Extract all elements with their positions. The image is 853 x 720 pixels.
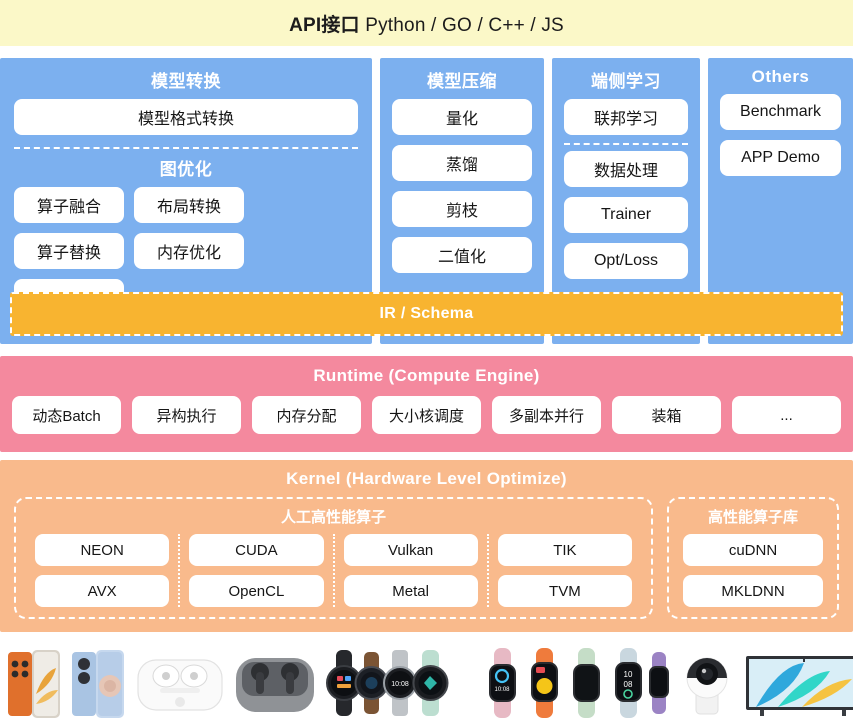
on-device-learning-stack: 数据处理 Trainer Opt/Loss — [552, 151, 700, 279]
box-tik[interactable]: TIK — [498, 534, 632, 566]
smartphone-orange-image — [6, 646, 64, 720]
box-more-runtime[interactable]: ... — [732, 396, 841, 434]
box-metal[interactable]: Metal — [344, 575, 478, 607]
box-data-processing[interactable]: 数据处理 — [564, 151, 688, 187]
device-strip: 10:08 10:08 — [0, 640, 853, 720]
box-distillation[interactable]: 蒸馏 — [392, 145, 532, 181]
box-heterogeneous-execution[interactable]: 异构执行 — [132, 396, 241, 434]
dashed-divider-on-device — [564, 143, 688, 145]
operator-library-stack: cuDNN MKLDNN — [679, 534, 827, 607]
column-title-model-compression: 模型压缩 — [380, 58, 544, 99]
manual-operators-columns: NEON AVX CUDA OpenCL Vulkan Metal TIK TV… — [26, 534, 641, 607]
column-subtitle-graph-optimization: 图优化 — [0, 155, 372, 187]
on-device-learning-top: 联邦学习 — [552, 99, 700, 135]
box-mkldnn[interactable]: MKLDNN — [683, 575, 823, 607]
manual-operators-title: 人工高性能算子 — [26, 503, 641, 534]
box-memory-allocation[interactable]: 内存分配 — [252, 396, 361, 434]
column-title-others: Others — [708, 58, 853, 94]
box-app-demo[interactable]: APP Demo — [720, 140, 841, 176]
box-trainer[interactable]: Trainer — [564, 197, 688, 233]
runtime-band: Runtime (Compute Engine) 动态Batch 异构执行 内存… — [0, 356, 853, 452]
manual-operators-group: 人工高性能算子 NEON AVX CUDA OpenCL Vulkan Meta… — [14, 497, 653, 619]
svg-text:10: 10 — [624, 670, 633, 679]
box-dynamic-batch[interactable]: 动态Batch — [12, 396, 121, 434]
box-avx[interactable]: AVX — [35, 575, 169, 607]
security-camera-image — [676, 646, 738, 720]
box-multi-replica-parallel[interactable]: 多副本并行 — [492, 396, 601, 434]
svg-text:10:08: 10:08 — [494, 687, 510, 693]
api-header-cn: API接口 — [289, 15, 360, 36]
smartwatch-group-image: 10:08 — [324, 646, 474, 720]
operator-library-group: 高性能算子库 cuDNN MKLDNN — [667, 497, 839, 619]
kernel-group-compiler: TIK TVM — [487, 534, 641, 607]
box-model-format-conversion[interactable]: 模型格式转换 — [14, 99, 358, 135]
smart-tv-image — [744, 646, 853, 720]
operator-library-title: 高性能算子库 — [679, 503, 827, 534]
earbuds-case-dark-image — [232, 646, 318, 720]
svg-text:10:08: 10:08 — [391, 681, 409, 688]
box-operator-replacement[interactable]: 算子替换 — [14, 233, 124, 269]
box-binarization[interactable]: 二值化 — [392, 237, 532, 273]
box-big-little-core-scheduling[interactable]: 大小核调度 — [372, 396, 481, 434]
smartphone-blue-image — [70, 646, 128, 720]
kernel-group-graphics-api: Vulkan Metal — [333, 534, 487, 607]
kernel-body: 人工高性能算子 NEON AVX CUDA OpenCL Vulkan Meta… — [0, 489, 853, 619]
box-vulkan[interactable]: Vulkan — [344, 534, 478, 566]
box-quantization[interactable]: 量化 — [392, 99, 532, 135]
box-benchmark[interactable]: Benchmark — [720, 94, 841, 130]
fitness-band-group-image: 10:08 10 — [480, 646, 670, 720]
box-neon[interactable]: NEON — [35, 534, 169, 566]
box-layout-conversion[interactable]: 布局转换 — [134, 187, 244, 223]
box-opt-loss[interactable]: Opt/Loss — [564, 243, 688, 279]
api-header-text: API接口 Python / GO / C++ / JS — [289, 10, 564, 37]
box-federated-learning[interactable]: 联邦学习 — [564, 99, 688, 135]
model-compression-stack: 量化 蒸馏 剪枝 二值化 — [380, 99, 544, 273]
box-opencl[interactable]: OpenCL — [189, 575, 323, 607]
svg-text:08: 08 — [624, 680, 633, 689]
runtime-items-row: 动态Batch 异构执行 内存分配 大小核调度 多副本并行 装箱 ... — [0, 386, 853, 434]
box-packing[interactable]: 装箱 — [612, 396, 721, 434]
kernel-group-cpu-simd: NEON AVX — [26, 534, 178, 607]
box-operator-fusion[interactable]: 算子融合 — [14, 187, 124, 223]
box-cuda[interactable]: CUDA — [189, 534, 323, 566]
api-header-bar: API接口 Python / GO / C++ / JS — [0, 0, 853, 46]
ir-schema-bar[interactable]: IR / Schema — [10, 292, 843, 336]
kernel-title: Kernel (Hardware Level Optimize) — [0, 460, 853, 489]
kernel-group-gpu-compute: CUDA OpenCL — [178, 534, 332, 607]
box-cudnn[interactable]: cuDNN — [683, 534, 823, 566]
architecture-diagram: API接口 Python / GO / C++ / JS 模型转换 模型格式转换… — [0, 0, 853, 720]
earbuds-case-white-image — [134, 646, 226, 720]
kernel-band: Kernel (Hardware Level Optimize) 人工高性能算子… — [0, 460, 853, 632]
others-stack: Benchmark APP Demo — [708, 94, 853, 176]
api-header-en: Python / GO / C++ / JS — [360, 15, 564, 36]
column-title-model-conversion: 模型转换 — [0, 58, 372, 99]
runtime-title: Runtime (Compute Engine) — [0, 356, 853, 386]
box-memory-optimization[interactable]: 内存优化 — [134, 233, 244, 269]
box-pruning[interactable]: 剪枝 — [392, 191, 532, 227]
dashed-divider-conversion — [14, 147, 358, 149]
column-title-on-device-learning: 端侧学习 — [552, 58, 700, 99]
box-tvm[interactable]: TVM — [498, 575, 632, 607]
